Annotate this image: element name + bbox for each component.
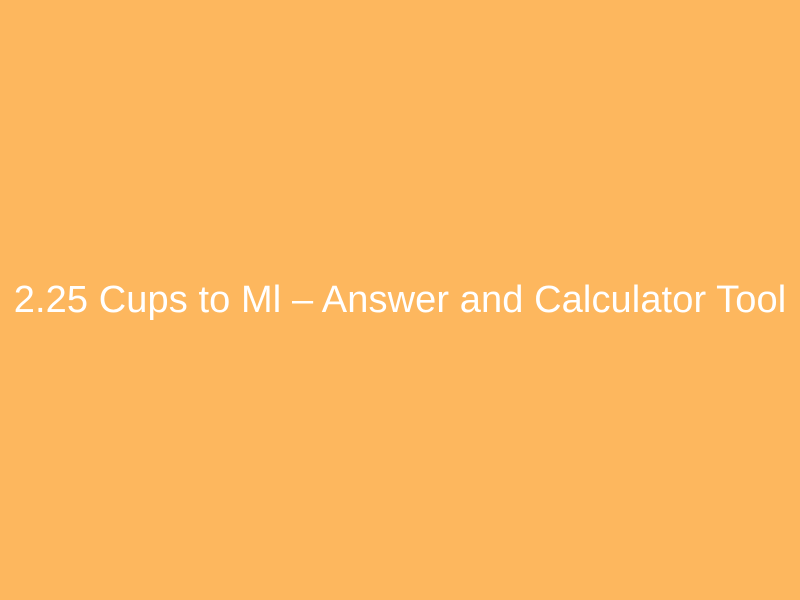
- banner-title-block: 2.25 Cups to Ml – Answer and Calculator …: [0, 0, 800, 600]
- hero-banner: 2.25 Cups to Ml – Answer and Calculator …: [0, 0, 800, 600]
- page-title: 2.25 Cups to Ml – Answer and Calculator …: [14, 277, 787, 323]
